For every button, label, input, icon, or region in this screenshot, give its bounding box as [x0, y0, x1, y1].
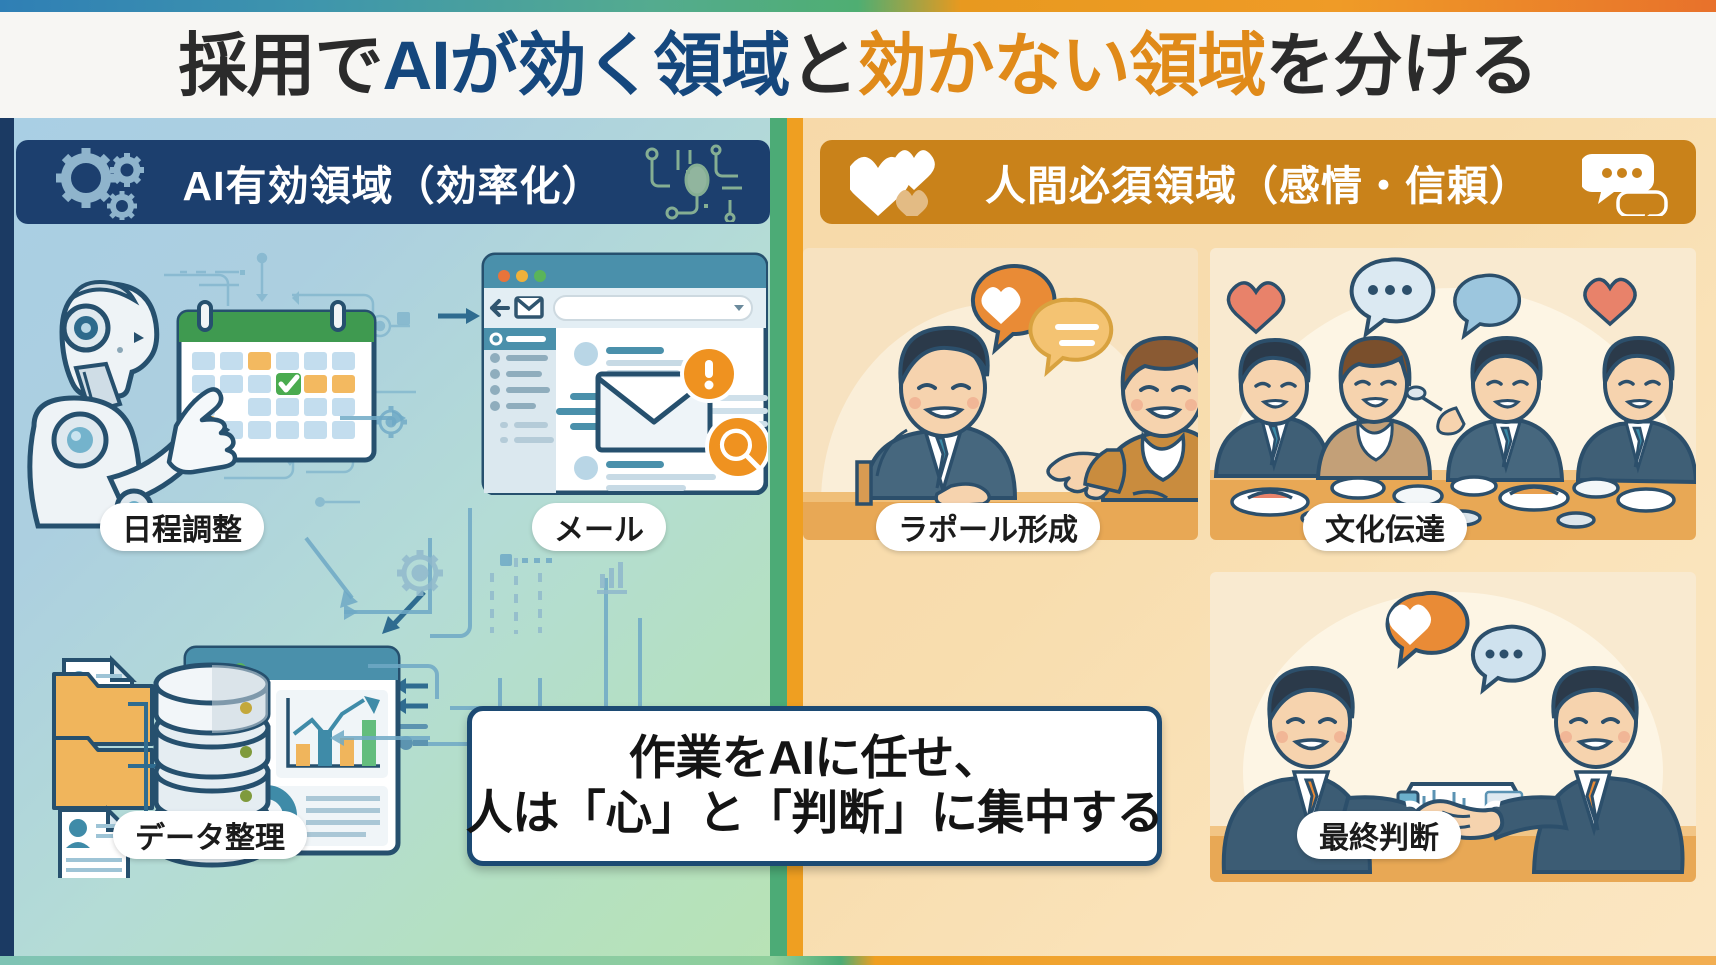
top-accent-strip — [0, 0, 1716, 12]
hearts-icon — [850, 150, 960, 216]
page-title: 採用でAIが効く領域と効かない領域を分ける — [179, 31, 1538, 100]
illustration-team-meal — [1210, 248, 1696, 540]
gears-icon — [56, 146, 176, 220]
title-segment-2: AIが効く領域 — [383, 27, 790, 104]
label-rapport-building: ラポール形成 — [876, 503, 1100, 551]
right-panel-header: 人間必須領域（感情・信頼） — [820, 140, 1696, 224]
bottom-accent-strip — [0, 956, 1716, 965]
label-schedule-adjustment: 日程調整 — [100, 503, 264, 551]
title-segment-4: 効かない領域 — [858, 27, 1266, 104]
label-culture-transmission: 文化伝達 — [1303, 503, 1467, 551]
title-segment-1: 採用で — [179, 27, 383, 104]
title-segment-5: を分ける — [1266, 27, 1538, 104]
infographic-root: 採用でAIが効く領域と効かない領域を分ける — [0, 0, 1716, 965]
callout-line-1: 作業をAIに任せ、 — [629, 731, 1001, 786]
title-segment-3: と — [790, 27, 858, 104]
illustration-rapport-conversation — [803, 248, 1198, 540]
illustration-email-window — [438, 250, 768, 495]
circuit-icon — [642, 144, 752, 222]
label-final-judgment: 最終判断 — [1297, 811, 1461, 859]
center-callout: 作業をAIに任せ、 人は「心」と「判断」に集中する — [467, 706, 1162, 866]
title-band: 採用でAIが効く領域と効かない領域を分ける — [0, 12, 1716, 118]
illustration-robot-calendar — [24, 240, 424, 540]
left-panel-edge — [0, 118, 14, 965]
label-data-organization: データ整理 — [113, 811, 307, 859]
speech-bubbles-icon — [1582, 150, 1670, 216]
callout-line-2: 人は「心」と「判断」に集中する — [466, 786, 1164, 841]
label-email: メール — [532, 503, 666, 551]
left-panel-header: AI有効領域（効率化） — [16, 140, 770, 224]
